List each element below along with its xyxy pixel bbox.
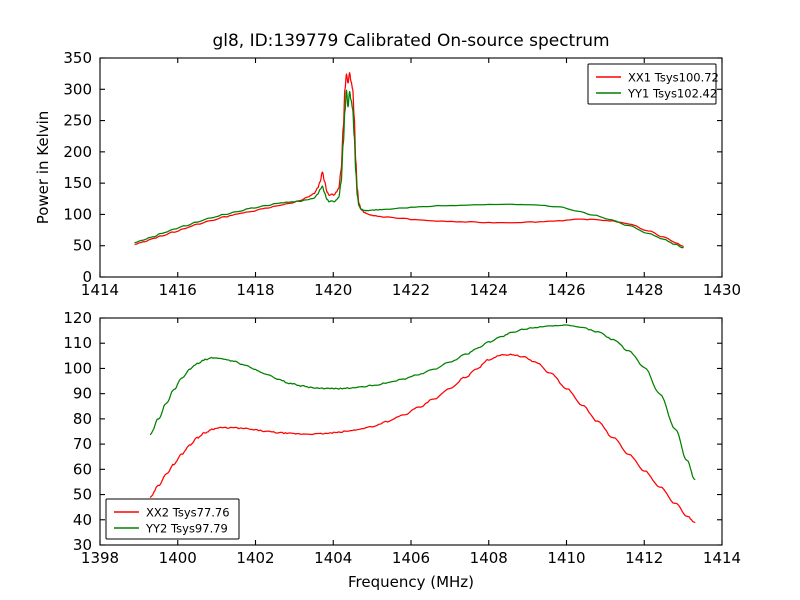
x-tick-label: 1412 — [625, 549, 663, 567]
x-tick-label: 1428 — [625, 281, 663, 299]
x-tick-label: 1404 — [314, 549, 352, 567]
y-tick-label: 50 — [73, 237, 92, 255]
x-tick-label: 1402 — [236, 549, 274, 567]
y-tick-label: 120 — [63, 309, 92, 327]
x-tick-label: 1416 — [159, 281, 197, 299]
legend-label-xx: XX1 Tsys100.72 — [628, 71, 719, 85]
x-tick-label: 1400 — [159, 549, 197, 567]
spectrum-plot-canvas: gl8, ID:139779 Calibrated On-source spec… — [0, 0, 800, 600]
y-tick-label: 40 — [73, 511, 92, 529]
page-title: gl8, ID:139779 Calibrated On-source spec… — [212, 31, 609, 51]
legend: XX1 Tsys100.72YY1 Tsys102.42 — [588, 64, 719, 104]
legend: XX2 Tsys77.76YY2 Tsys97.79 — [106, 499, 239, 539]
x-tick-label: 1408 — [470, 549, 508, 567]
y-tick-label: 100 — [63, 205, 92, 223]
y-tick-label: 250 — [63, 112, 92, 130]
y-tick-label: 350 — [63, 49, 92, 67]
y-tick-label: 0 — [82, 268, 92, 286]
y-tick-label: 110 — [63, 334, 92, 352]
y-tick-label: 70 — [73, 435, 92, 453]
y-tick-label: 50 — [73, 486, 92, 504]
x-tick-label: 1420 — [314, 281, 352, 299]
y-tick-label: 30 — [73, 536, 92, 554]
x-tick-label: 1424 — [470, 281, 508, 299]
y-tick-label: 300 — [63, 80, 92, 98]
x-tick-label: 1422 — [392, 281, 430, 299]
x-axis-label: Frequency (MHz) — [348, 573, 474, 591]
y-tick-label: 60 — [73, 460, 92, 478]
x-tick-label: 1418 — [236, 281, 274, 299]
x-tick-label: 1410 — [547, 549, 585, 567]
bottom-panel: 1398140014021404140614081410141214143040… — [63, 309, 741, 591]
legend-label-yy: YY2 Tsys97.79 — [145, 522, 228, 536]
y-tick-label: 150 — [63, 174, 92, 192]
x-tick-label: 1430 — [703, 281, 741, 299]
x-tick-label: 1426 — [547, 281, 585, 299]
y-tick-label: 100 — [63, 359, 92, 377]
legend-label-xx: XX2 Tsys77.76 — [146, 506, 230, 520]
matplotlib-figure: gl8, ID:139779 Calibrated On-source spec… — [0, 0, 800, 600]
top-panel: 1414141614181420142214241426142814300501… — [34, 49, 741, 299]
x-tick-label: 1406 — [392, 549, 430, 567]
y-axis-label: Power in Kelvin — [34, 111, 52, 225]
y-tick-label: 200 — [63, 143, 92, 161]
legend-label-yy: YY1 Tsys102.42 — [627, 87, 717, 101]
y-tick-label: 90 — [73, 385, 92, 403]
x-tick-label: 1414 — [703, 549, 741, 567]
y-tick-label: 80 — [73, 410, 92, 428]
